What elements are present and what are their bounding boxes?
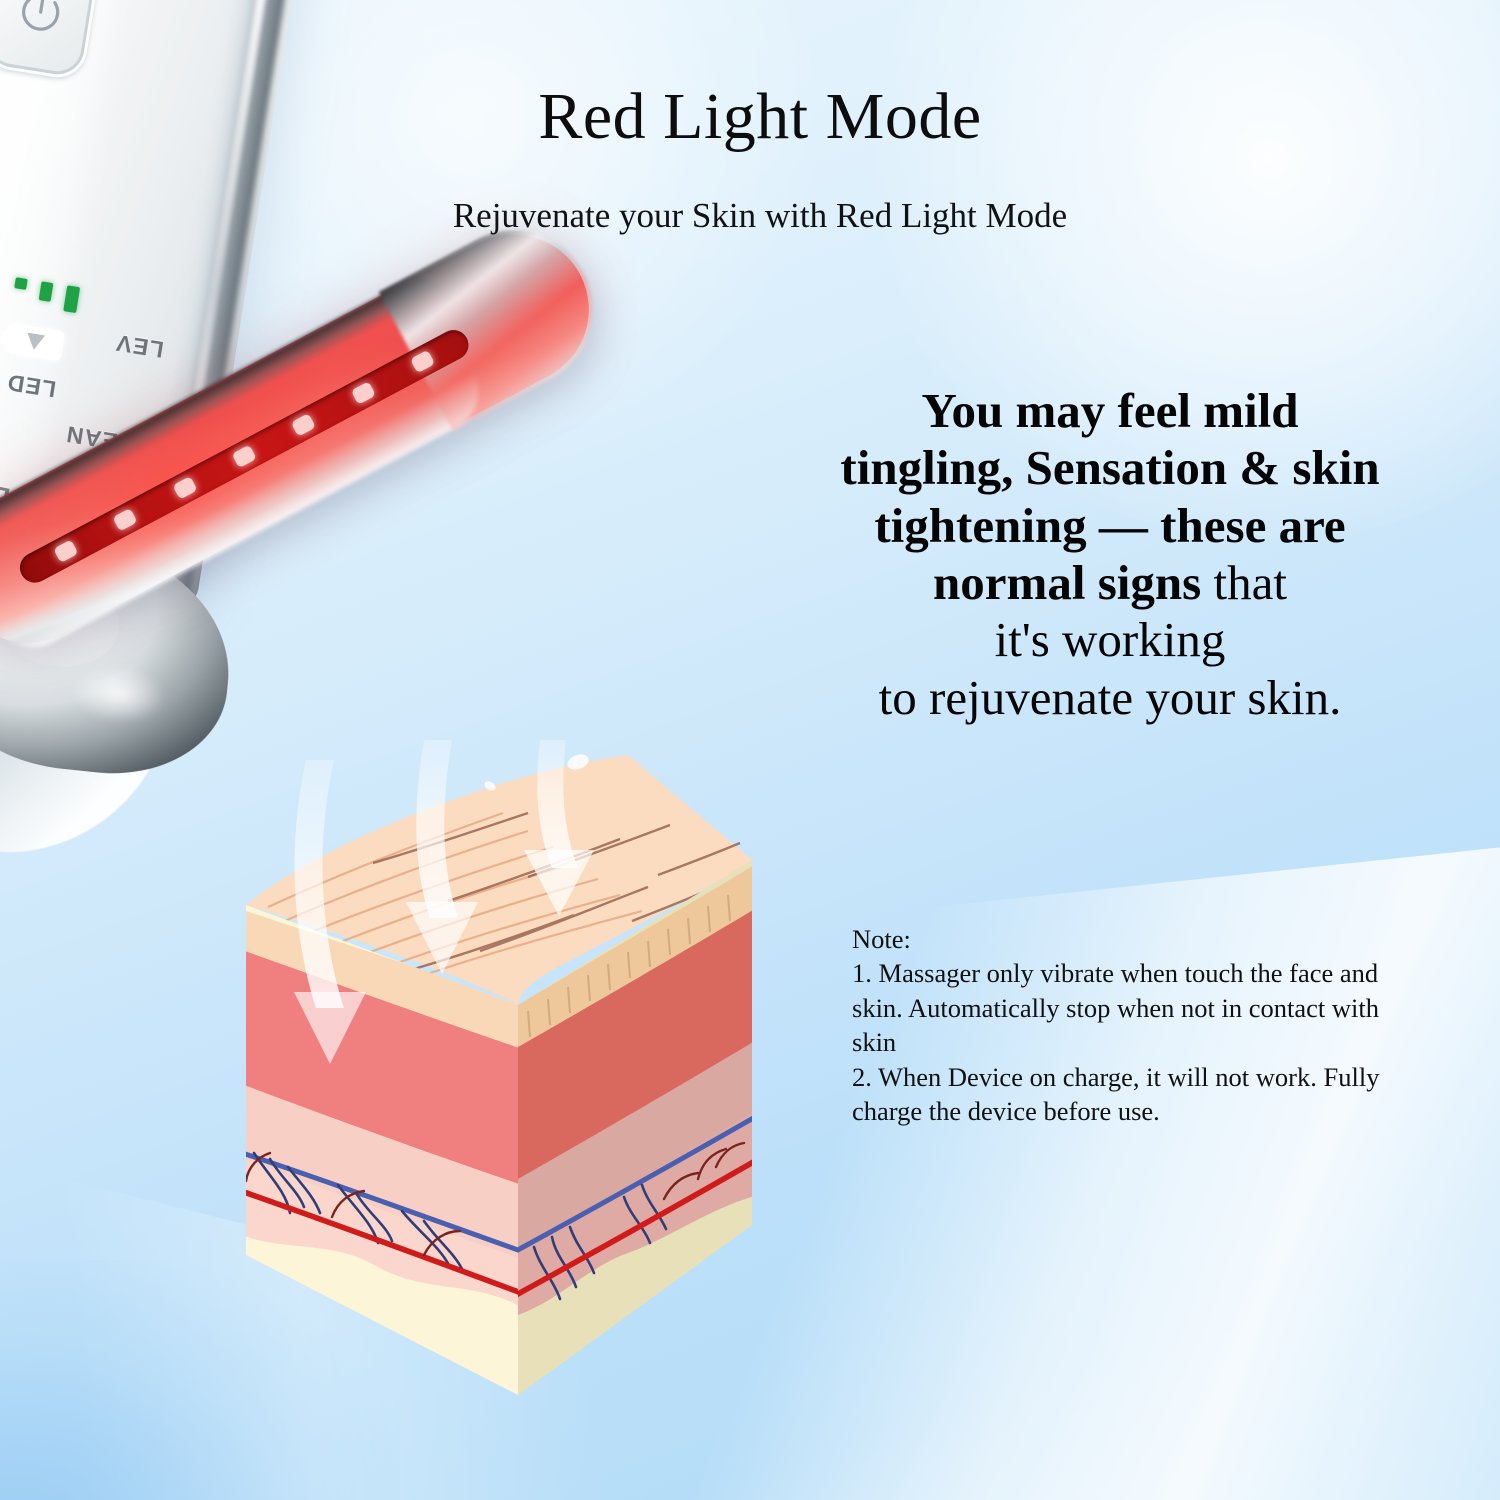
headline-block: You may feel mild tingling, Sensation & … <box>760 382 1460 726</box>
bolt-glyph <box>25 333 45 352</box>
headline-line-5: it's working <box>995 612 1226 667</box>
page-title: Red Light Mode <box>300 82 1220 151</box>
note-line: 1. Massager only vibrate when touch the … <box>852 956 1412 990</box>
battery-charging-icon <box>5 323 65 361</box>
level-bar <box>14 277 28 290</box>
lev-label: LEV <box>114 329 166 363</box>
level-indicator <box>0 264 81 321</box>
headline-line-4-bold: normal signs <box>933 555 1201 610</box>
led-light <box>351 381 376 405</box>
arrow-down <box>406 740 478 974</box>
led-light <box>410 350 435 374</box>
note-heading: Note: <box>852 922 1412 956</box>
note-line: charge the device before use. <box>852 1094 1412 1128</box>
light-penetration-arrows <box>228 740 768 1300</box>
headline-line-2: tingling, Sensation & skin <box>840 440 1379 495</box>
page-subtitle: Rejuvenate your Skin with Red Light Mode <box>300 196 1220 236</box>
headline-line-6: to rejuvenate your skin. <box>879 670 1342 725</box>
led-light <box>172 476 197 500</box>
note-block: Note: 1. Massager only vibrate when touc… <box>852 922 1412 1129</box>
level-bar <box>39 281 54 302</box>
note-line: skin. Automatically stop when not in con… <box>852 991 1412 1025</box>
power-icon <box>11 0 70 43</box>
arrow-down <box>294 760 366 1064</box>
neck-highlight-secondary <box>67 659 169 729</box>
led-label: LED <box>5 368 58 402</box>
headline-line-3: tightening — these are <box>874 498 1345 553</box>
headline-line-4-rest: that <box>1201 555 1287 610</box>
level-bar <box>63 285 80 313</box>
headline-line-1: You may feel mild <box>922 383 1299 438</box>
led-light <box>113 508 138 532</box>
sparkle <box>483 752 591 793</box>
led-light <box>291 413 316 437</box>
led-light <box>53 540 78 564</box>
note-line: skin <box>852 1025 1412 1059</box>
note-line: 2. When Device on charge, it will not wo… <box>852 1060 1412 1094</box>
led-light <box>232 445 257 469</box>
